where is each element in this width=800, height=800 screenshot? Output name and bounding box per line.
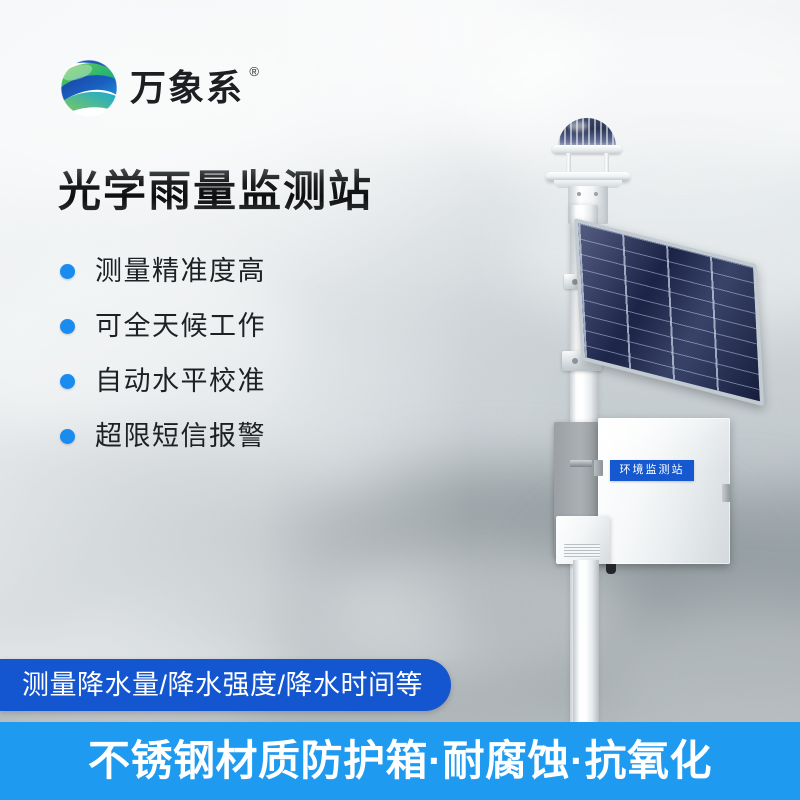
pill-banner: 测量降水量/降水强度/降水时间等: [0, 659, 451, 711]
brand-name-wrap: 万象系 ®: [130, 70, 244, 106]
blue-dot-bullet-icon: [60, 264, 75, 279]
list-item: 超限短信报警: [60, 423, 266, 450]
pill-banner-text: 测量降水量/降水强度/降水时间等: [22, 672, 423, 699]
page-title: 光学雨量监测站: [58, 168, 373, 216]
bottom-banner-text: 不锈钢材质防护箱·耐腐蚀·抗氧化: [88, 740, 712, 782]
feature-label: 测量精准度高: [95, 258, 266, 285]
brand-name: 万象系: [130, 70, 244, 106]
product-poster: 环境监测站: [0, 0, 800, 800]
feature-list: 测量精准度高 可全天候工作 自动水平校准 超限短信报警: [60, 258, 266, 450]
list-item: 自动水平校准: [60, 368, 266, 395]
blue-dot-bullet-icon: [60, 374, 75, 389]
list-item: 测量精准度高: [60, 258, 266, 285]
bottom-banner: 不锈钢材质防护箱·耐腐蚀·抗氧化: [0, 722, 800, 800]
globe-swoosh-logo-icon: [58, 57, 120, 119]
blue-dot-bullet-icon: [60, 319, 75, 334]
trademark-symbol: ®: [249, 64, 259, 79]
list-item: 可全天候工作: [60, 313, 266, 340]
feature-label: 可全天候工作: [95, 313, 266, 340]
blue-dot-bullet-icon: [60, 429, 75, 444]
feature-label: 超限短信报警: [95, 423, 266, 450]
brand-logo: 万象系 ®: [58, 57, 244, 119]
feature-label: 自动水平校准: [95, 368, 266, 395]
